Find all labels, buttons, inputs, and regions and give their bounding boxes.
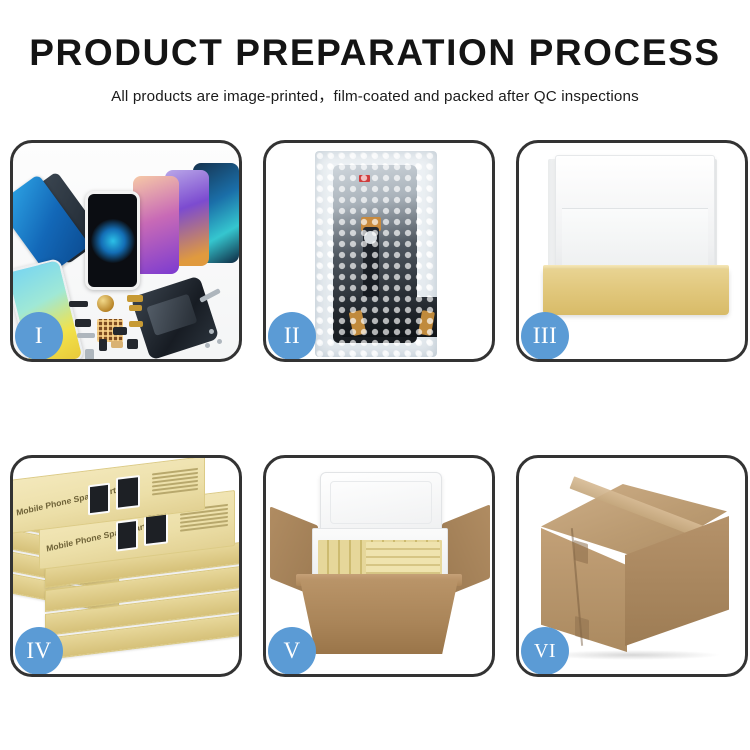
- small-part-2: [127, 295, 143, 302]
- speaker-part-icon: [97, 295, 114, 312]
- process-step-panel-1[interactable]: I: [10, 140, 242, 362]
- page-title: PRODUCT PREPARATION PROCESS: [0, 34, 750, 73]
- box-print-screen-1: [116, 519, 138, 552]
- step-badge-3: III: [521, 312, 569, 360]
- small-part-6: [99, 339, 107, 351]
- small-part-11: [129, 321, 143, 327]
- box-print-textlines-top: [152, 468, 198, 498]
- process-step-panel-5[interactable]: V: [263, 455, 495, 677]
- small-part-1: [69, 301, 88, 307]
- screen-glow: [91, 219, 135, 263]
- box-print-screen-3: [88, 483, 110, 516]
- small-part-9: [85, 349, 94, 359]
- step-badge-5: V: [268, 627, 316, 675]
- yellow-box-tray: [543, 269, 729, 315]
- carton-shadow: [545, 650, 721, 660]
- bubble-wrap-bag: [315, 151, 437, 357]
- screw-2: [217, 339, 222, 344]
- step-badge-4: IV: [15, 627, 63, 675]
- screw-3: [205, 343, 210, 348]
- screw-1: [209, 329, 214, 334]
- step-badge-1: I: [15, 312, 63, 360]
- small-part-4: [75, 319, 91, 327]
- process-step-grid: I II: [10, 140, 740, 680]
- step-badge-2: II: [268, 312, 316, 360]
- small-part-8: [113, 327, 127, 335]
- box-print-screen-4: [116, 475, 140, 510]
- foam-sheet: [555, 155, 715, 283]
- small-part-10: [127, 339, 138, 349]
- styrofoam-lid: [320, 472, 442, 534]
- process-step-panel-6[interactable]: VI: [516, 455, 748, 677]
- process-step-panel-2[interactable]: II: [263, 140, 495, 362]
- small-part-7: [111, 341, 123, 348]
- process-step-panel-4[interactable]: Mobile Phone Spare Parts Mobile Phone Sp…: [10, 455, 242, 677]
- step-badge-6: VI: [521, 627, 569, 675]
- process-step-panel-3[interactable]: III: [516, 140, 748, 362]
- carton-handle-tab-bottom: [575, 616, 589, 640]
- page-subtitle: All products are image-printed，film-coat…: [0, 84, 750, 106]
- page-header: PRODUCT PREPARATION PROCESS All products…: [0, 0, 750, 106]
- carton-body: [300, 580, 458, 654]
- small-part-5: [77, 333, 95, 338]
- phone-screen-black-frame: [85, 191, 140, 290]
- small-part-3: [129, 305, 142, 311]
- carton-handle-tab-top: [574, 540, 588, 564]
- bubble-wrap-texture: [315, 151, 437, 357]
